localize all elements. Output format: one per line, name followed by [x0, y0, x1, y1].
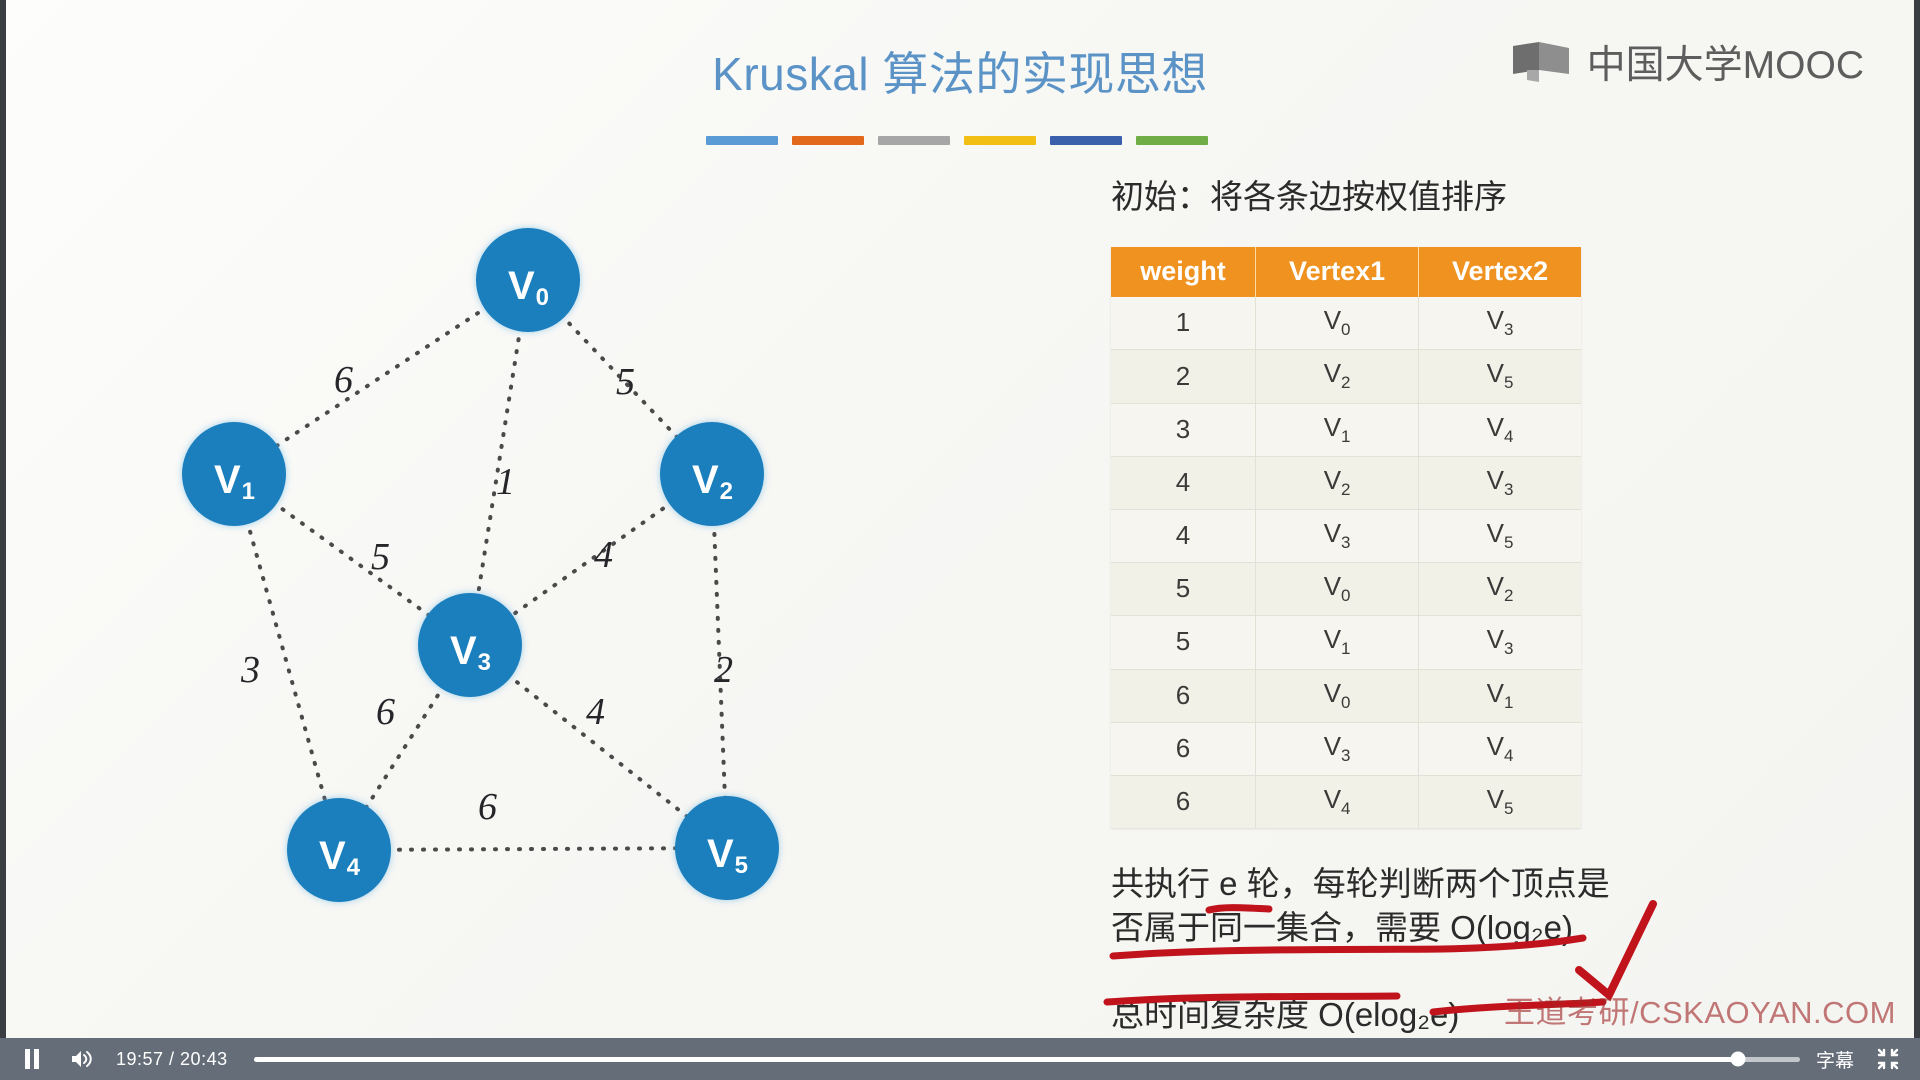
cell-vertex2: V5 [1419, 775, 1581, 828]
letterbox-left [0, 0, 6, 1080]
rule-bar-3 [878, 136, 950, 145]
rule-bar-6 [1136, 136, 1208, 145]
edge-weight-v0-v1: 6 [334, 358, 353, 402]
cell-weight: 2 [1111, 350, 1256, 403]
cell-vertex2: V5 [1419, 350, 1581, 403]
cell-vertex1: V1 [1256, 616, 1419, 669]
sorted-edge-table: weight Vertex1 Vertex2 1V0V32V2V53V1V44V… [1111, 247, 1581, 828]
note-line-1: 共执行 e 轮，每轮判断两个顶点是 [1111, 862, 1671, 906]
rule-bar-5 [1050, 136, 1122, 145]
mooc-logo-text: 中国大学MOOC [1587, 34, 1864, 90]
edge-weight-v3-v5: 4 [586, 690, 605, 734]
cell-vertex2: V3 [1419, 456, 1581, 509]
table-row: 4V3V5 [1111, 509, 1581, 562]
table-row: 2V2V5 [1111, 350, 1581, 403]
cell-vertex1: V3 [1256, 722, 1419, 775]
init-step-text: 初始：将各条边按权值排序 [1111, 175, 1671, 219]
graph-node-v5-label: V [707, 834, 734, 874]
cell-vertex2: V3 [1419, 297, 1581, 350]
edge-table-header-row: weight Vertex1 Vertex2 [1111, 247, 1581, 297]
rule-bar-4 [964, 136, 1036, 145]
cell-weight: 4 [1111, 456, 1256, 509]
cell-vertex1: V0 [1256, 297, 1419, 350]
edge-weight-v1-v4: 3 [241, 648, 260, 692]
watermark-text: 王道考研/CSKAOYAN.COM [1504, 987, 1896, 1032]
table-row: 4V2V3 [1111, 456, 1581, 509]
volume-icon [70, 1049, 94, 1069]
table-row: 1V0V3 [1111, 297, 1581, 350]
subtitle-button[interactable]: 字幕 [1816, 1046, 1854, 1073]
rule-bar-1 [706, 136, 778, 145]
exit-fullscreen-button[interactable] [1870, 1044, 1906, 1074]
cell-vertex2: V3 [1419, 616, 1581, 669]
cell-vertex2: V4 [1419, 722, 1581, 775]
table-row: 3V1V4 [1111, 403, 1581, 456]
graph-node-v1[interactable]: V1 [182, 422, 286, 526]
note-line-2: 否属于同一集合，需要 O(log₂e) [1111, 906, 1671, 950]
rule-bar-2 [792, 136, 864, 145]
graph-node-v5[interactable]: V5 [675, 796, 779, 900]
graph-node-v0-label: V [508, 266, 535, 306]
graph-node-v2-sub: 2 [720, 480, 733, 504]
video-player-screen: Kruskal 算法的实现思想 中国大学MOOC [0, 0, 1920, 1080]
graph-node-v1-label: V [214, 460, 241, 500]
graph-node-v5-sub: 5 [735, 854, 748, 878]
graph-node-v2[interactable]: V2 [660, 422, 764, 526]
graph-node-v3-label: V [450, 631, 477, 671]
progress-handle[interactable] [1731, 1052, 1746, 1067]
cell-vertex2: V5 [1419, 509, 1581, 562]
explanation-panel: 初始：将各条边按权值排序 weight Vertex1 Vertex2 1V0V… [1111, 175, 1671, 1037]
cell-weight: 1 [1111, 297, 1256, 350]
graph-node-v4[interactable]: V4 [287, 798, 391, 902]
slide-canvas: Kruskal 算法的实现思想 中国大学MOOC [6, 0, 1914, 1038]
title-underline-rules [706, 136, 1208, 145]
edge-weight-v2-v5: 2 [714, 648, 733, 692]
table-row: 5V0V2 [1111, 563, 1581, 616]
edge-table-head: weight Vertex1 Vertex2 [1111, 247, 1581, 297]
progress-bar[interactable] [254, 1057, 1800, 1062]
pause-button[interactable] [14, 1044, 50, 1074]
cell-vertex1: V1 [1256, 403, 1419, 456]
graph-node-v3-sub: 3 [478, 651, 491, 675]
graph-node-v4-sub: 4 [347, 856, 360, 880]
graph-node-v0-sub: 0 [536, 286, 549, 310]
cell-weight: 5 [1111, 616, 1256, 669]
letterbox-right [1914, 0, 1920, 1080]
cell-weight: 6 [1111, 722, 1256, 775]
exit-fullscreen-icon [1877, 1048, 1899, 1070]
weighted-graph-diagram: V0 V1 V2 V3 V4 V5 6 5 1 5 4 3 6 4 [66, 170, 966, 960]
cell-vertex1: V3 [1256, 509, 1419, 562]
edge-lines [234, 280, 727, 850]
mooc-logo: 中国大学MOOC [1511, 34, 1864, 90]
cell-weight: 4 [1111, 509, 1256, 562]
graph-node-v4-label: V [319, 836, 346, 876]
graph-node-v3[interactable]: V3 [418, 593, 522, 697]
cell-vertex2: V2 [1419, 563, 1581, 616]
cell-vertex1: V4 [1256, 775, 1419, 828]
cell-vertex1: V0 [1256, 669, 1419, 722]
time-display: 19:57 / 20:43 [116, 1049, 228, 1070]
cell-vertex1: V0 [1256, 563, 1419, 616]
edge-weight-v2-v3: 4 [594, 533, 613, 577]
table-row: 6V3V4 [1111, 722, 1581, 775]
edge-weight-v3-v4: 6 [376, 690, 395, 734]
edge-weight-v1-v3: 5 [371, 535, 390, 579]
cell-weight: 5 [1111, 563, 1256, 616]
progress-filled [254, 1057, 1739, 1062]
graph-node-v0[interactable]: V0 [476, 228, 580, 332]
volume-button[interactable] [64, 1044, 100, 1074]
edge-v4-v5 [339, 848, 727, 850]
table-row: 5V1V3 [1111, 616, 1581, 669]
edge-table-body: 1V0V32V2V53V1V44V2V34V3V55V0V25V1V36V0V1… [1111, 297, 1581, 828]
cell-vertex1: V2 [1256, 350, 1419, 403]
graph-node-v1-sub: 1 [242, 480, 255, 504]
cell-weight: 6 [1111, 775, 1256, 828]
video-controls-bar: 19:57 / 20:43 字幕 [0, 1038, 1920, 1080]
edge-weight-v4-v5: 6 [478, 785, 497, 829]
edge-weight-v0-v2: 5 [616, 360, 635, 404]
cell-vertex2: V1 [1419, 669, 1581, 722]
cell-vertex1: V2 [1256, 456, 1419, 509]
column-header-vertex2: Vertex2 [1419, 247, 1581, 297]
cell-vertex2: V4 [1419, 403, 1581, 456]
column-header-weight: weight [1111, 247, 1256, 297]
column-header-vertex1: Vertex1 [1256, 247, 1419, 297]
open-book-icon [1511, 40, 1573, 84]
cell-weight: 3 [1111, 403, 1256, 456]
pause-icon [24, 1049, 40, 1069]
table-row: 6V0V1 [1111, 669, 1581, 722]
edge-v0-v1 [234, 280, 528, 474]
table-row: 6V4V5 [1111, 775, 1581, 828]
graph-node-v2-label: V [692, 460, 719, 500]
edge-weight-v0-v3: 1 [496, 460, 515, 504]
cell-weight: 6 [1111, 669, 1256, 722]
